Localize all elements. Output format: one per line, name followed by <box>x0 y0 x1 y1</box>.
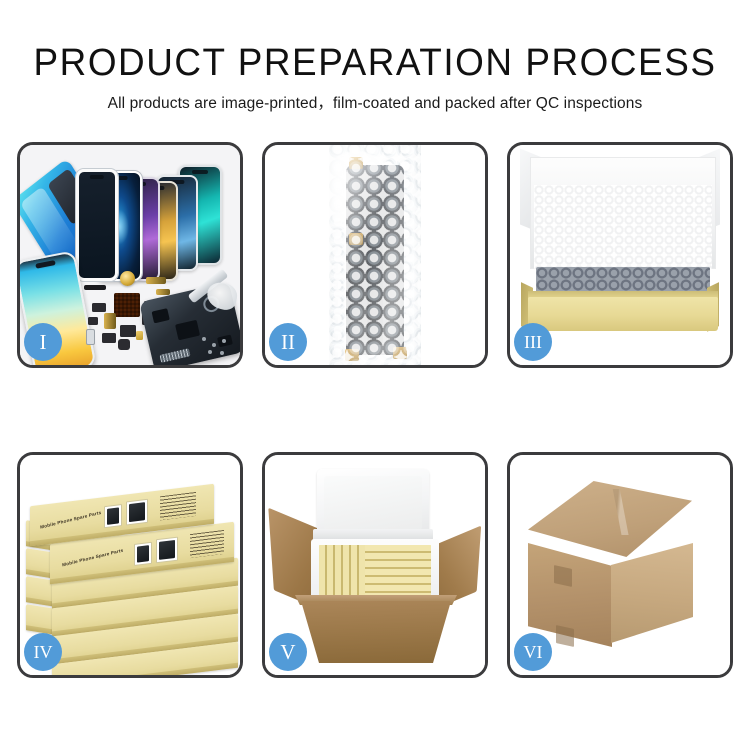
flex-cable-icon <box>367 237 383 345</box>
yellow-kraft-box-icon <box>528 297 718 331</box>
box-window-icon <box>104 504 122 528</box>
bubble-wrap-bag-icon <box>329 145 421 365</box>
foam-sheet-icon <box>534 185 712 269</box>
step-badge-6: VI <box>514 633 552 671</box>
screw-icon <box>208 350 212 354</box>
box-window-icon <box>156 537 178 564</box>
page-title: PRODUCT PREPARATION PROCESS <box>11 44 739 82</box>
part-strip-icon <box>84 285 106 290</box>
connector-icon <box>345 349 359 361</box>
step-badge-5: V <box>269 633 307 671</box>
screw-icon <box>212 343 216 347</box>
connector-icon <box>349 233 363 245</box>
part-flex-cable-icon <box>156 289 170 295</box>
part-vibrator-icon <box>118 339 130 350</box>
box-spec-lines <box>160 492 196 520</box>
part-flex-cable-icon <box>104 313 116 329</box>
part-shield-icon <box>120 325 136 337</box>
box-label-text: Mobile Phone Spare Parts <box>62 548 124 568</box>
carton-tape-patch <box>556 625 574 647</box>
coil-icon <box>159 348 190 363</box>
connector-icon <box>393 347 407 359</box>
screen-swatch <box>159 540 175 560</box>
process-step-5: V <box>262 452 488 678</box>
part-logic-board-icon <box>114 293 140 317</box>
part-speaker-icon <box>120 271 135 286</box>
box-label-text: Mobile Phone Spare Parts <box>40 510 102 530</box>
connector-icon <box>349 157 363 169</box>
step-badge-3: III <box>514 323 552 361</box>
screen-swatch <box>129 502 145 522</box>
page-subtitle: All products are image-printed，film-coat… <box>0 96 750 112</box>
screen-swatch <box>107 507 119 524</box>
phone-front-glass-icon <box>76 169 118 281</box>
process-step-6: VI <box>507 452 733 678</box>
carton-front-panel <box>301 601 451 663</box>
step-badge-4: IV <box>24 633 62 671</box>
screw-icon <box>220 351 224 355</box>
box-spec-lines <box>190 530 224 558</box>
process-step-1: I <box>17 142 243 368</box>
part-bracket-icon <box>92 303 106 312</box>
part-camera-icon <box>102 333 116 343</box>
packed-boxes-horizontal <box>365 545 431 597</box>
process-step-4: Mobile Phone Spare Parts Mobile Phone Sp… <box>17 452 243 678</box>
process-step-3: III <box>507 142 733 368</box>
box-window-icon <box>134 542 152 566</box>
step-badge-2: II <box>269 323 307 361</box>
packed-boxes-group <box>319 545 431 597</box>
part-sim-tray-icon <box>86 329 95 345</box>
header: PRODUCT PREPARATION PROCESS All products… <box>0 0 750 112</box>
part-flex-cable-icon <box>146 277 166 284</box>
part-bracket-icon <box>88 317 98 325</box>
step-badge-1: I <box>24 323 62 361</box>
screw-icon <box>202 337 206 341</box>
product-preparation-infographic: PRODUCT PREPARATION PROCESS All products… <box>0 0 750 750</box>
notch <box>90 175 104 179</box>
screen-swatch <box>137 545 149 562</box>
process-step-grid: I II <box>17 142 733 678</box>
carton-tape-patch <box>554 565 572 587</box>
screws-group <box>202 337 228 355</box>
process-step-2: II <box>262 142 488 368</box>
notch <box>192 170 208 174</box>
chip-icon <box>152 308 170 323</box>
foam-lid-icon <box>317 469 429 537</box>
packed-boxes-vertical <box>319 545 365 597</box>
chip-icon <box>175 320 200 341</box>
phone-fan-group <box>94 163 240 281</box>
screw-icon <box>222 339 226 343</box>
part-screw-plate-icon <box>136 331 143 340</box>
box-window-icon <box>126 499 148 526</box>
